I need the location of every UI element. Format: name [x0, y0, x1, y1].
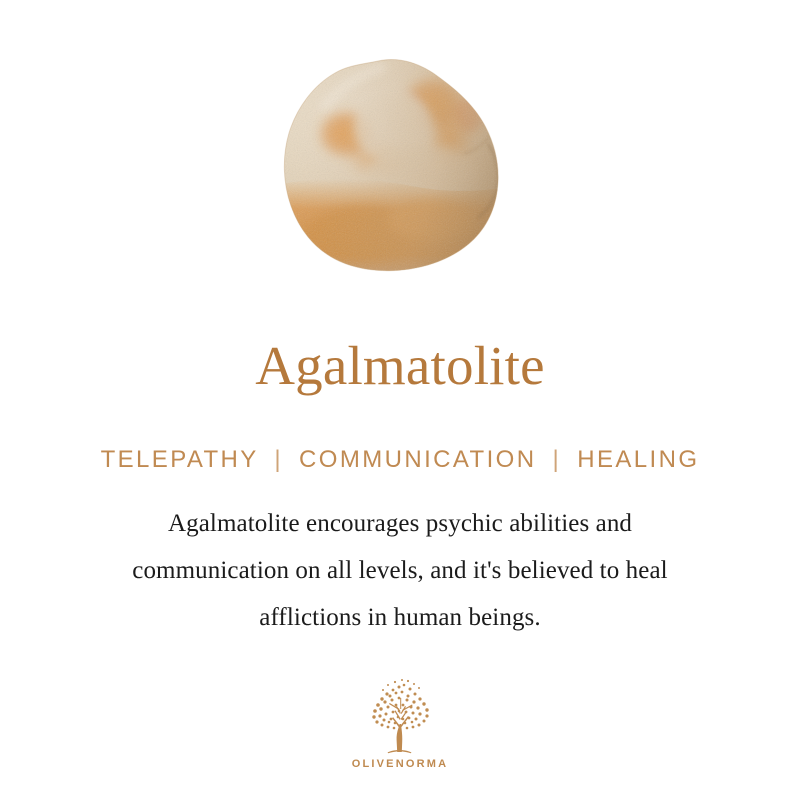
brand-logo: OLIVENORMA: [0, 678, 800, 770]
stone-illustration: [282, 58, 536, 280]
page-title: Agalmatolite: [0, 333, 800, 399]
stone-image-area: [0, 0, 800, 310]
agalmatolite-stone-image: [282, 58, 536, 280]
keyword-telepathy: TELEPATHY: [101, 446, 259, 473]
keyword-communication: COMMUNICATION: [299, 446, 536, 473]
keyword-separator-2: |: [546, 446, 569, 473]
product-info-card: Agalmatolite TELEPATHY | COMMUNICATION |…: [0, 0, 800, 800]
description-line-3: afflictions in human beings.: [50, 594, 750, 641]
description-line-2: communication on all levels, and it's be…: [50, 547, 750, 594]
description-text: Agalmatolite encourages psychic abilitie…: [50, 500, 750, 641]
description-line-1: Agalmatolite encourages psychic abilitie…: [50, 500, 750, 547]
brand-wordmark: OLIVENORMA: [0, 758, 800, 770]
keyword-separator-1: |: [267, 446, 290, 473]
olive-tree-logo-icon: [352, 678, 448, 754]
keyword-healing: HEALING: [577, 446, 699, 473]
keyword-list: TELEPATHY | COMMUNICATION | HEALING: [0, 444, 800, 476]
